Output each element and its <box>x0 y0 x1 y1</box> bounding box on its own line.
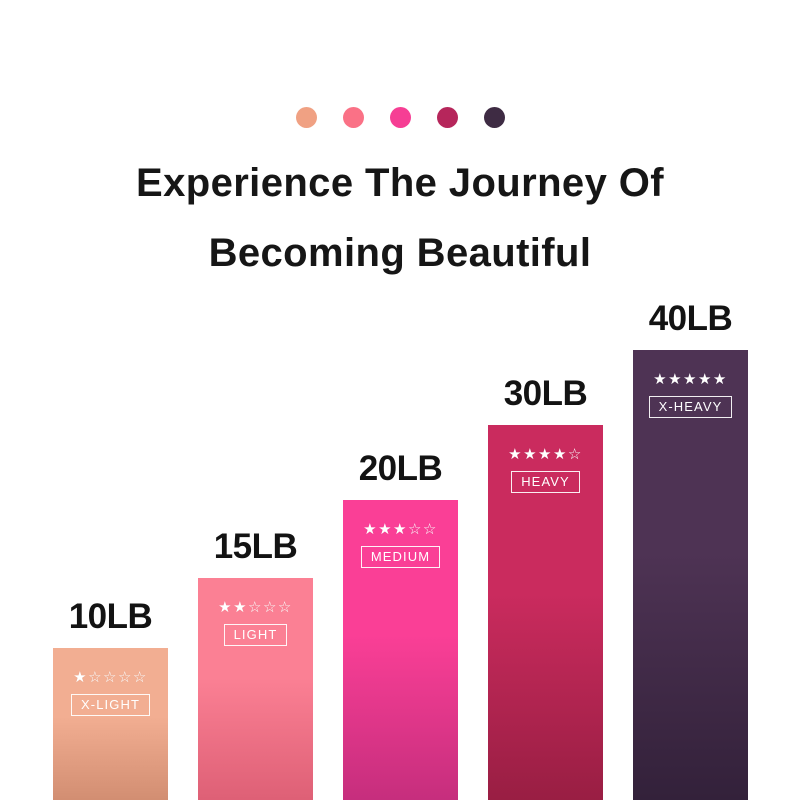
tier-badge: X-HEAVY <box>649 396 733 418</box>
bar-column-30lb[interactable]: 30LB★★★★☆HEAVY <box>488 376 603 800</box>
bar-fill[interactable]: ★★★★★X-HEAVY <box>633 350 748 800</box>
bar-weight-label: 10LB <box>69 599 153 634</box>
bar-weight-label: 30LB <box>504 376 588 411</box>
tier-badge: HEAVY <box>511 471 580 493</box>
tier-badge: X-LIGHT <box>71 694 150 716</box>
product-infographic: Experience The Journey Of Becoming Beaut… <box>0 0 800 800</box>
bar-fill[interactable]: ★★★☆☆MEDIUM <box>343 500 458 800</box>
bar-column-10lb[interactable]: 10LB★☆☆☆☆X-LIGHT <box>53 599 168 800</box>
bar-fill[interactable]: ★★☆☆☆LIGHT <box>198 578 313 800</box>
star-rating: ★★☆☆☆ <box>218 600 293 615</box>
star-rating: ★★★★★ <box>653 372 728 387</box>
bar-column-40lb[interactable]: 40LB★★★★★X-HEAVY <box>633 301 748 800</box>
bar-weight-label: 20LB <box>359 451 443 486</box>
bar-column-15lb[interactable]: 15LB★★☆☆☆LIGHT <box>198 529 313 800</box>
bar-fill[interactable]: ★☆☆☆☆X-LIGHT <box>53 648 168 800</box>
star-rating: ★☆☆☆☆ <box>73 670 148 685</box>
star-rating: ★★★☆☆ <box>363 522 438 537</box>
resistance-bar-chart: 10LB★☆☆☆☆X-LIGHT15LB★★☆☆☆LIGHT20LB★★★☆☆M… <box>0 0 800 800</box>
bar-column-20lb[interactable]: 20LB★★★☆☆MEDIUM <box>343 451 458 800</box>
bar-fill[interactable]: ★★★★☆HEAVY <box>488 425 603 800</box>
bar-weight-label: 40LB <box>649 301 733 336</box>
tier-badge: LIGHT <box>224 624 288 646</box>
star-rating: ★★★★☆ <box>508 447 583 462</box>
tier-badge: MEDIUM <box>361 546 440 568</box>
bar-weight-label: 15LB <box>214 529 298 564</box>
